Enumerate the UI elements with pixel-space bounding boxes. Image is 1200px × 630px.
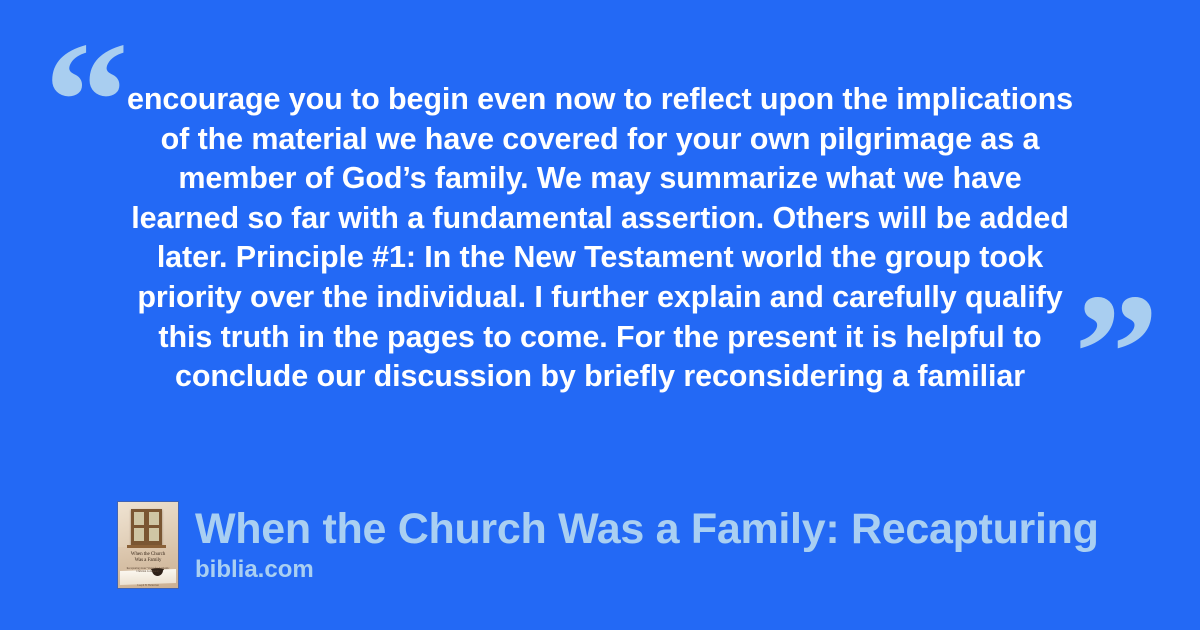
attribution-footer: When the Church Was a Family Recapturing…	[118, 502, 1099, 588]
cover-title-line-2: Was a Family	[121, 557, 175, 563]
quote-text-block: encourage you to begin even now to refle…	[108, 80, 1092, 397]
quote-line: encourage you to begin even now to refle…	[108, 80, 1092, 120]
cover-window-icon	[131, 509, 162, 545]
quote-line: this truth in the pages to come. For the…	[108, 318, 1092, 358]
cover-author: Joseph H. Hellerman	[122, 584, 174, 587]
footer-text-group: When the Church Was a Family: Recapturin…	[195, 502, 1099, 585]
cover-window-sill	[127, 545, 166, 548]
quote-card: “ ” encourage you to begin even now to r…	[0, 0, 1200, 630]
quote-line: member of God’s family. We may summarize…	[108, 159, 1092, 199]
cover-subtitle: Recapturing Jesus’ Vision for Authentic …	[124, 567, 172, 574]
quote-line: of the material we have covered for your…	[108, 120, 1092, 160]
quote-line: learned so far with a fundamental assert…	[108, 199, 1092, 239]
book-cover-thumbnail[interactable]: When the Church Was a Family Recapturing…	[118, 502, 178, 588]
quote-line: conclude our discussion by briefly recon…	[108, 357, 1092, 397]
quote-line: priority over the individual. I further …	[108, 278, 1092, 318]
quote-line: later. Principle #1: In the New Testamen…	[108, 238, 1092, 278]
site-name[interactable]: biblia.com	[195, 555, 1099, 585]
book-title[interactable]: When the Church Was a Family: Recapturin…	[195, 505, 1099, 553]
